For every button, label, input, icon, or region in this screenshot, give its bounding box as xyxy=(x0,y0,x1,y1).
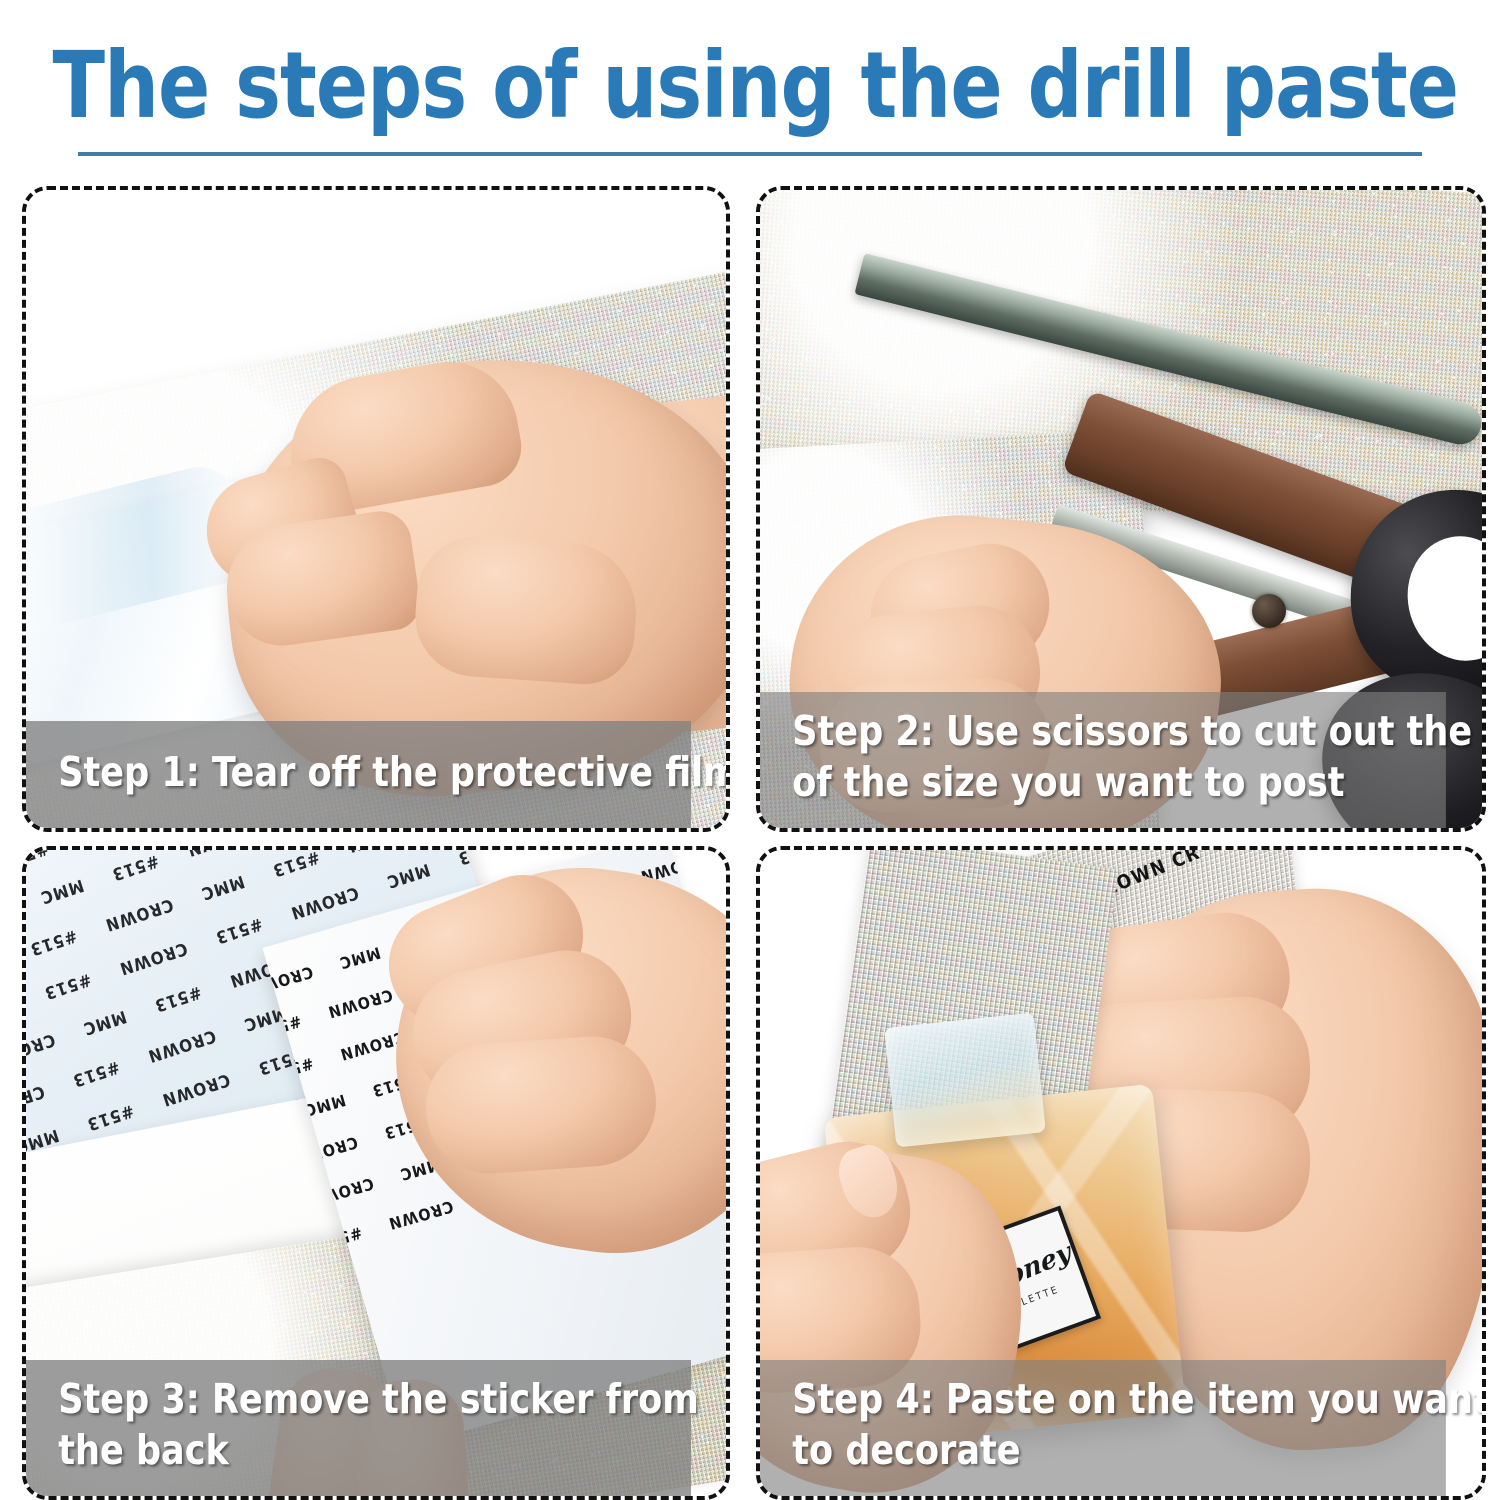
steps-grid: Step 1: Tear off the protective film xyxy=(0,182,1500,1500)
step-1-caption: Step 1: Tear off the protective film xyxy=(26,721,691,828)
step-panel-3: CROWN #513 MMC CROWN #513 CROWN #513 MMC… xyxy=(22,846,730,1500)
step-4-caption: Step 4: Paste on the item you want to de… xyxy=(760,1360,1446,1496)
scissor-pivot-screw xyxy=(1252,594,1286,628)
step-2-caption-line-1: Step 2: Use scissors to cut out the size xyxy=(792,706,1446,757)
step-4-caption-line-2: to decorate xyxy=(792,1425,1446,1476)
finger-ring xyxy=(422,1032,661,1178)
step-3-caption-line-2: the back xyxy=(58,1425,691,1476)
step-3-caption-line-1: Step 3: Remove the sticker from xyxy=(58,1374,691,1425)
step-1-caption-line-1: Step 1: Tear off the protective film xyxy=(58,747,691,798)
step-panel-4: CROWN CR Miss honey EAU DE TOILETTE Step… xyxy=(756,846,1486,1500)
page-title: The steps of using the drill paste xyxy=(53,34,1448,138)
step-2-caption-line-2: of the size you want to post xyxy=(792,757,1446,808)
title-divider xyxy=(78,152,1422,156)
bottle-cap xyxy=(884,1012,1046,1147)
thumb xyxy=(411,532,640,687)
header: The steps of using the drill paste xyxy=(0,0,1500,182)
step-4-caption-line-1: Step 4: Paste on the item you want xyxy=(792,1374,1446,1425)
step-3-caption: Step 3: Remove the sticker from the back xyxy=(26,1360,691,1496)
step-panel-2: Step 2: Use scissors to cut out the size… xyxy=(756,186,1486,832)
step-2-caption: Step 2: Use scissors to cut out the size… xyxy=(760,692,1446,828)
step-panel-1: Step 1: Tear off the protective film xyxy=(22,186,730,832)
